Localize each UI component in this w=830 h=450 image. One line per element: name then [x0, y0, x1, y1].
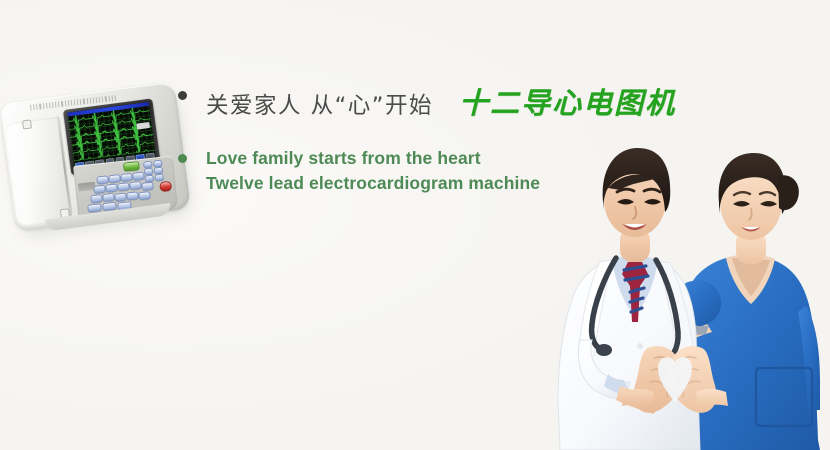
keypad-button[interactable]	[108, 174, 120, 183]
stop-button[interactable]	[159, 181, 172, 192]
english-line-1: Love family starts from the heart	[206, 146, 540, 171]
keypad-button[interactable]	[120, 173, 132, 182]
stethoscope-earpiece	[596, 344, 612, 356]
keypad-button[interactable]	[96, 175, 108, 184]
bullet-dot-dark-icon	[178, 91, 187, 100]
coat-button	[637, 343, 643, 349]
english-line-2: Twelve lead electrocardiogram machine	[206, 171, 540, 196]
chinese-headline: 关爱家人 从“心”开始	[206, 93, 433, 119]
keypad-button[interactable]	[105, 184, 117, 193]
keypad-button[interactable]	[90, 194, 102, 203]
doctor-and-nurse-photo	[520, 110, 830, 450]
english-copy: Love family starts from the heart Twelve…	[206, 146, 540, 196]
keypad-button[interactable]	[102, 193, 114, 202]
promo-banner: 关爱家人 从“心”开始十二导心电图机 Love family starts fr…	[0, 0, 830, 450]
keypad-button[interactable]	[93, 185, 105, 194]
people-illustration	[520, 110, 830, 450]
keypad-button[interactable]	[117, 182, 129, 191]
nurse-hair-bun	[778, 175, 799, 210]
keypad-button[interactable]	[126, 191, 138, 200]
nav-enter-button[interactable]	[154, 174, 164, 182]
start-button[interactable]	[123, 161, 140, 171]
ecg-machine	[0, 81, 196, 243]
bullet-dot-green-icon	[178, 154, 187, 163]
keypad-button[interactable]	[132, 172, 144, 181]
keypad-button[interactable]	[114, 193, 126, 202]
lid-latch-top[interactable]	[22, 119, 32, 129]
keypad-button[interactable]	[138, 191, 150, 200]
keypad-button[interactable]	[129, 181, 141, 190]
keypad-button[interactable]	[141, 182, 153, 191]
